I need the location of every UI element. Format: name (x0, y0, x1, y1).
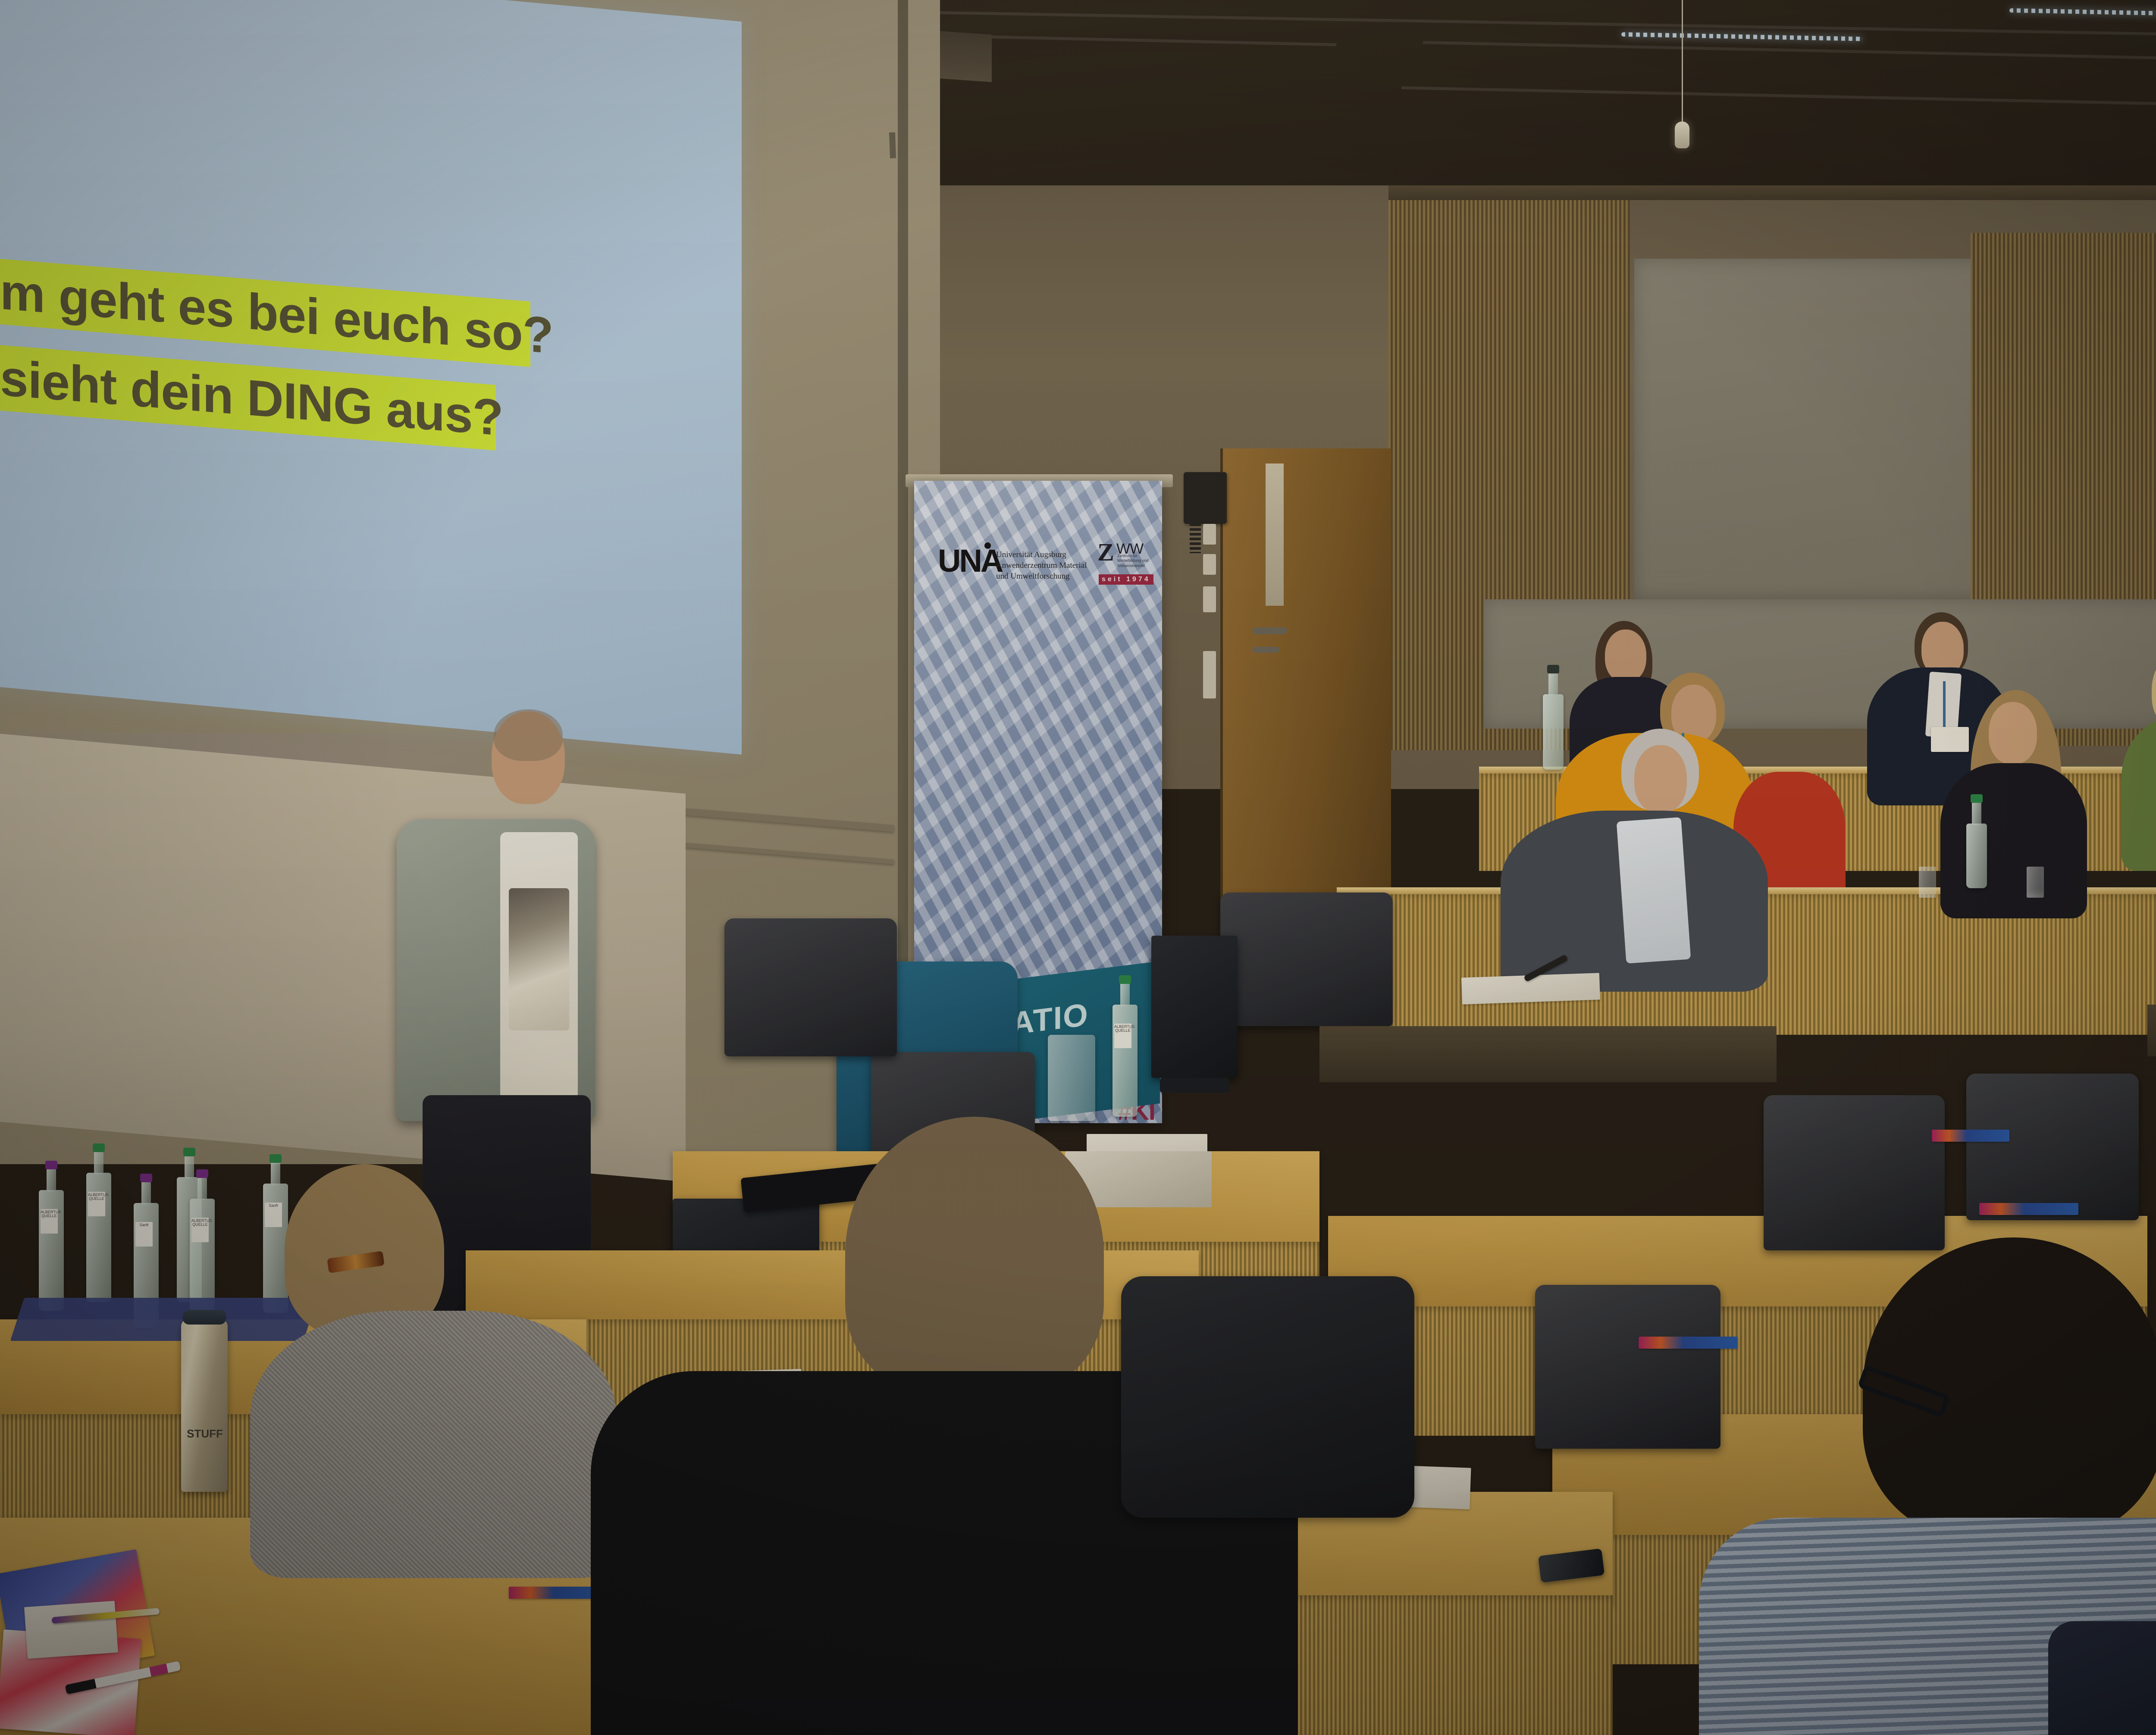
bottle-cap (196, 1169, 208, 1178)
bottle-label: ALBERTUS QUELLE (41, 1209, 58, 1234)
door-lock-lever[interactable] (1253, 647, 1279, 653)
water-bottle[interactable]: ALBERTUS QUELLE (1112, 1005, 1138, 1117)
hair (845, 1117, 1104, 1393)
door[interactable] (1220, 448, 1391, 949)
table-cloth (10, 1298, 317, 1341)
bottle-neck (47, 1168, 56, 1192)
pendant-cable (1682, 0, 1683, 123)
bottle-neck (1548, 672, 1558, 696)
monitor-stand (1160, 1078, 1229, 1093)
light-switch-panel[interactable] (1203, 651, 1216, 698)
water-bottle[interactable]: ALBERTUS QUELLE (86, 1173, 111, 1302)
head (1634, 745, 1687, 813)
bottle-label: ALBERTUS QUELLE (88, 1192, 105, 1216)
torso (250, 1311, 617, 1578)
desk-sticker (1932, 1130, 2009, 1142)
desk-sticker (1639, 1337, 1738, 1349)
banner-org-line-2: Anwenderzentrum Material (996, 560, 1095, 571)
bottle-neck (1120, 982, 1130, 1006)
zww-logo-z: Z (1097, 538, 1114, 566)
door-window (1266, 464, 1284, 606)
water-bottle[interactable]: ALBERTUS QUELLE (39, 1190, 64, 1311)
lectern-monitor[interactable] (1151, 936, 1238, 1078)
bottle-neck (94, 1150, 103, 1174)
pendant-light (1675, 122, 1689, 148)
wall-trim (1388, 185, 2156, 200)
chair[interactable] (1764, 1095, 1945, 1250)
bottle-neck (271, 1161, 280, 1185)
bottle-neck (185, 1155, 194, 1179)
floor-step (2147, 1005, 2156, 1056)
torso (1940, 763, 2087, 918)
chair[interactable] (1966, 1074, 2139, 1220)
light-switch[interactable] (1203, 554, 1216, 575)
wall-phone-icon[interactable] (1184, 472, 1227, 524)
una-logo-dot (984, 542, 991, 549)
water-bottle[interactable] (1543, 694, 1564, 770)
bottle-cap (45, 1161, 57, 1169)
bottle-cap (1547, 665, 1559, 673)
glass-jar[interactable] (1048, 1035, 1095, 1121)
bottle-cap (1971, 794, 1983, 803)
thermos-label: STUFF (185, 1427, 224, 1441)
wall-corner-seam (898, 0, 908, 1104)
thermos-lid[interactable] (183, 1310, 226, 1325)
banner-org-lines: Universität Augsburg Anwenderzentrum Mat… (996, 549, 1095, 582)
bottle-label: Sanft (135, 1222, 153, 1246)
bottle-label: ALBERTUS QUELLE (191, 1218, 209, 1242)
door-handle[interactable] (1253, 627, 1287, 634)
zww-since-badge: seit 1974 (1099, 574, 1153, 585)
chair[interactable] (1535, 1285, 1720, 1449)
water-bottle[interactable] (1966, 824, 1987, 888)
floor-step (1319, 1026, 1777, 1082)
una-logo: UNA (938, 548, 1002, 575)
bottle-cap (183, 1148, 195, 1156)
chair[interactable] (1220, 893, 1393, 1026)
paper-sheet (24, 1601, 118, 1659)
bottle-neck (141, 1181, 151, 1205)
bottle-cap (269, 1154, 282, 1163)
dark-garment (2048, 1621, 2156, 1735)
chair[interactable] (724, 918, 897, 1056)
drinking-glass[interactable] (1919, 867, 1936, 898)
banner-org-line-3: und Umweltforschung (996, 571, 1095, 582)
desk-sticker (1979, 1203, 2078, 1215)
banner-org-line-1: Universität Augsburg (996, 549, 1095, 560)
wall-seam (889, 132, 896, 158)
bottle-cap (140, 1174, 152, 1182)
dress-shirt (1617, 817, 1691, 964)
t-shirt-graphic (509, 888, 569, 1030)
coat-on-seat (1121, 1276, 1414, 1518)
bottle-neck (197, 1176, 207, 1200)
drinking-glass[interactable] (2027, 867, 2044, 898)
thermos-flask[interactable]: STUFF (181, 1319, 228, 1492)
head (1605, 629, 1646, 682)
lanyard (1943, 681, 1946, 729)
name-badge (1931, 727, 1969, 752)
light-switch[interactable] (1203, 524, 1216, 545)
light-switch[interactable] (1203, 586, 1216, 612)
zww-logo: Z WW Zentrum für Weiterbildung und Wisse… (1097, 542, 1114, 563)
hair (494, 709, 563, 761)
lecture-hall-scene: m geht es bei euch so? sieht dein DING a… (0, 0, 2156, 1735)
bottle-neck (1972, 801, 1981, 825)
zww-logo-subtitle: Zentrum für Weiterbildung und Wissenstra… (1117, 554, 1157, 568)
bottle-cap (93, 1143, 105, 1152)
bottle-cap (1119, 975, 1131, 984)
bottle-label: ALBERTUS QUELLE (1114, 1024, 1131, 1048)
bottle-label: Sanft (265, 1203, 282, 1227)
head (1989, 702, 2037, 764)
